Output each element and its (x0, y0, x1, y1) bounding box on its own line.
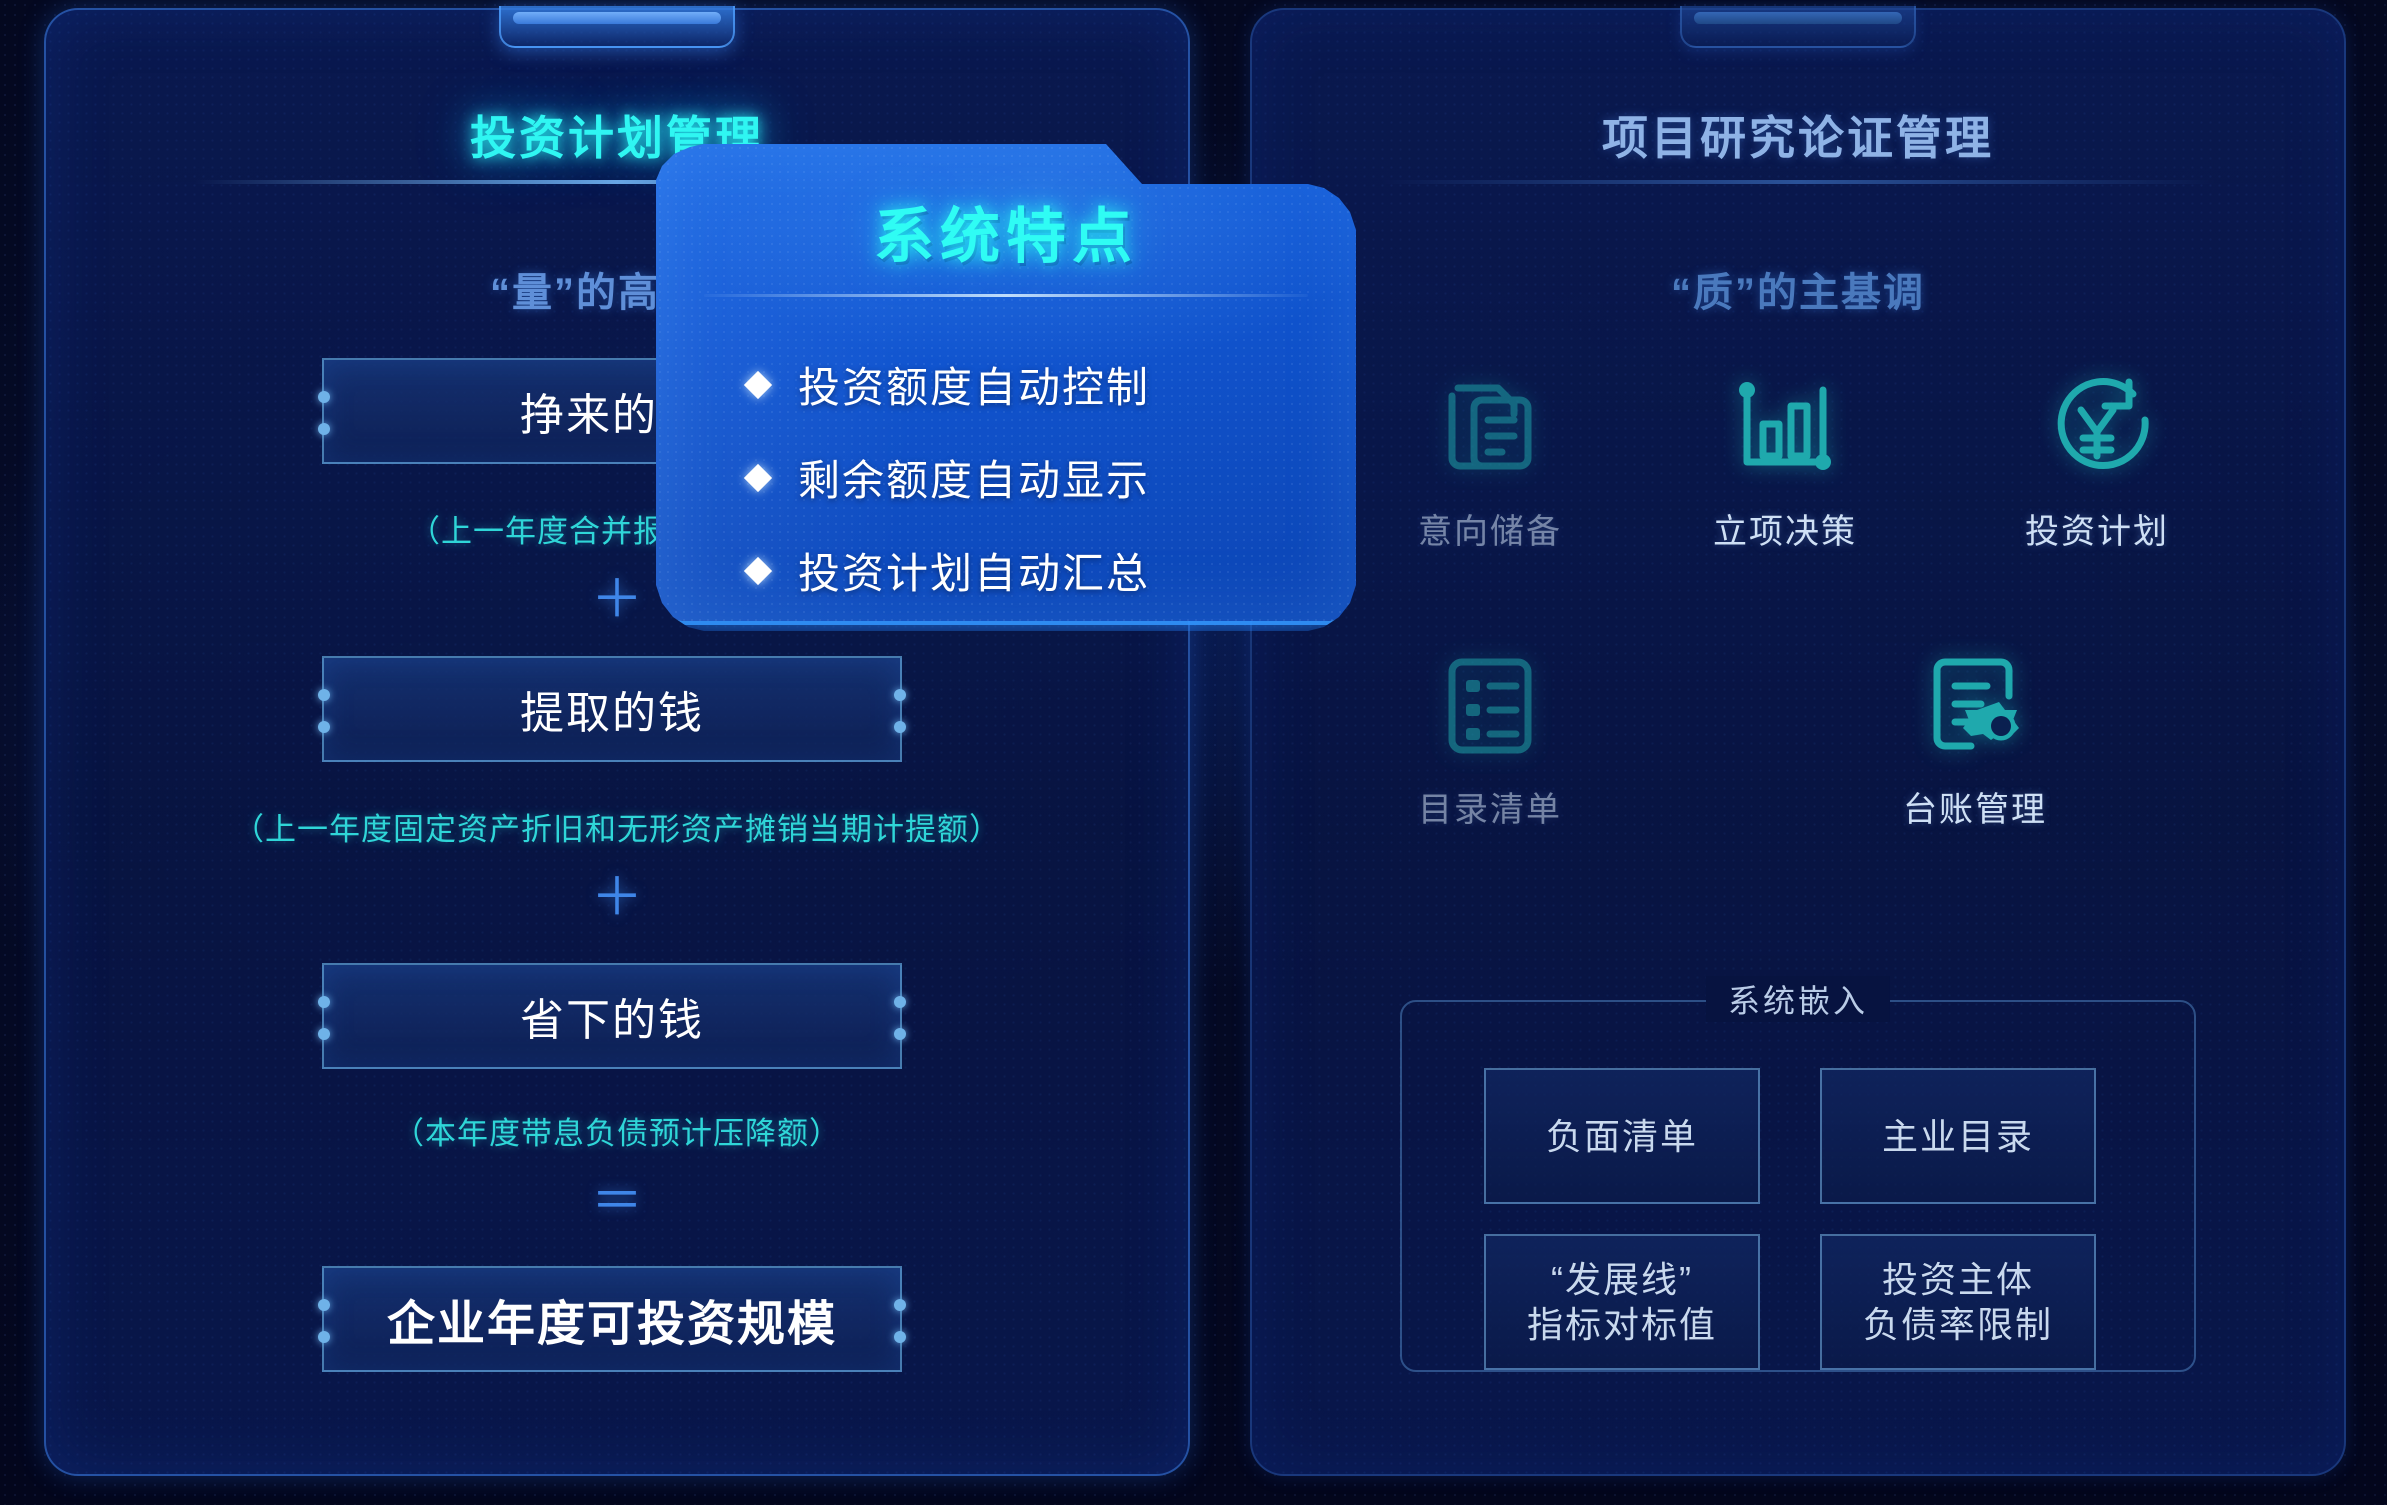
embed-box-main-business-catalog[interactable]: 主业目录 (1820, 1068, 2096, 1204)
formula-box-extracted[interactable]: 提取的钱 (322, 656, 902, 762)
right-panel-title-rule (1380, 180, 2216, 184)
right-panel-subtitle: “质”的主基调 (1250, 260, 2346, 318)
node-dot (318, 423, 330, 435)
icon-label-project-decision: 立项决策 (1680, 504, 1890, 553)
ledger-gear-icon (1870, 638, 2080, 770)
embed-box-development-line-label-2: 指标对标值 (1527, 1302, 1717, 1347)
left-panel-tab-highlight (513, 12, 721, 24)
node-dot (894, 996, 906, 1008)
feature-card-divider (704, 294, 1308, 297)
node-dot (894, 1299, 906, 1311)
right-panel-tab (1680, 6, 1916, 48)
yuan-circle-icon (1992, 360, 2202, 492)
left-panel-tab (499, 6, 735, 48)
formula-box-extracted-label: 提取的钱 (520, 677, 704, 741)
embed-box-investor-debt-limit-label-1: 投资主体 (1882, 1257, 2034, 1302)
right-panel: 项目研究论证管理 “质”的主基调 意向储备 立项决策 (1250, 8, 2346, 1476)
diamond-bullet-icon (744, 463, 772, 491)
feature-bullet-item: 投资额度自动控制 (748, 354, 1150, 415)
node-dot (318, 689, 330, 701)
feature-bullet-item: 剩余额度自动显示 (748, 447, 1150, 508)
right-panel-tab-highlight (1694, 12, 1902, 24)
system-embed-group: 系统嵌入 负面清单 主业目录 “发展线” 指标对标值 投资主体 负债率限制 (1400, 1000, 2196, 1372)
node-dot (318, 996, 330, 1008)
checklist-icon (1385, 638, 1595, 770)
node-dot (894, 689, 906, 701)
icon-label-investment-plan: 投资计划 (1992, 504, 2202, 553)
icon-item-catalog-list[interactable]: 目录清单 (1385, 638, 1595, 831)
node-dot (318, 721, 330, 733)
feature-bullet-label: 投资额度自动控制 (798, 354, 1150, 415)
diamond-bullet-icon (744, 370, 772, 398)
icon-label-catalog-list: 目录清单 (1385, 782, 1595, 831)
formula-note-saved: （本年度带息负债预计压降额） (44, 1108, 1190, 1153)
operator-plus-2: ＋ (44, 872, 1190, 924)
icon-label-ledger-management: 台账管理 (1870, 782, 2080, 831)
embed-box-negative-list-label: 负面清单 (1546, 1114, 1698, 1159)
feature-bullet-label: 剩余额度自动显示 (798, 447, 1150, 508)
formula-box-saved-label: 省下的钱 (520, 984, 704, 1048)
formula-note-extracted: （上一年度固定资产折旧和无形资产摊销当期计提额） (44, 804, 1190, 849)
feature-card-bullet-list: 投资额度自动控制 剩余额度自动显示 投资计划自动汇总 (748, 354, 1150, 633)
bar-chart-icon (1680, 360, 1890, 492)
node-dot (318, 391, 330, 403)
node-dot (318, 1028, 330, 1040)
embed-box-development-line-label-1: “发展线” (1551, 1257, 1693, 1302)
system-embed-legend: 系统嵌入 (1706, 976, 1890, 1022)
embed-box-investor-debt-limit-label-2: 负债率限制 (1863, 1302, 2053, 1347)
node-dot (318, 1331, 330, 1343)
embed-box-development-line[interactable]: “发展线” 指标对标值 (1484, 1234, 1760, 1370)
icon-label-intent-reserve: 意向储备 (1385, 504, 1595, 553)
icon-item-investment-plan[interactable]: 投资计划 (1992, 360, 2202, 553)
embed-box-investor-debt-limit[interactable]: 投资主体 负债率限制 (1820, 1234, 2096, 1370)
formula-box-result-label: 企业年度可投资规模 (387, 1284, 837, 1354)
operator-equals: ＝ (44, 1176, 1190, 1228)
right-panel-title: 项目研究论证管理 (1250, 102, 2346, 168)
formula-box-saved[interactable]: 省下的钱 (322, 963, 902, 1069)
embed-box-main-business-catalog-label: 主业目录 (1882, 1114, 2034, 1159)
feature-bullet-item: 投资计划自动汇总 (748, 540, 1150, 601)
node-dot (318, 1299, 330, 1311)
embed-box-negative-list[interactable]: 负面清单 (1484, 1068, 1760, 1204)
feature-card-title: 系统特点 (656, 188, 1356, 275)
feature-bullet-label: 投资计划自动汇总 (798, 540, 1150, 601)
documents-icon (1385, 360, 1595, 492)
icon-item-intent-reserve[interactable]: 意向储备 (1385, 360, 1595, 553)
feature-card[interactable]: 系统特点 投资额度自动控制 剩余额度自动显示 投资计划自动汇总 (656, 144, 1356, 621)
icon-item-project-decision[interactable]: 立项决策 (1680, 360, 1890, 553)
diamond-bullet-icon (744, 556, 772, 584)
icon-item-ledger-management[interactable]: 台账管理 (1870, 638, 2080, 831)
formula-box-result[interactable]: 企业年度可投资规模 (322, 1266, 902, 1372)
